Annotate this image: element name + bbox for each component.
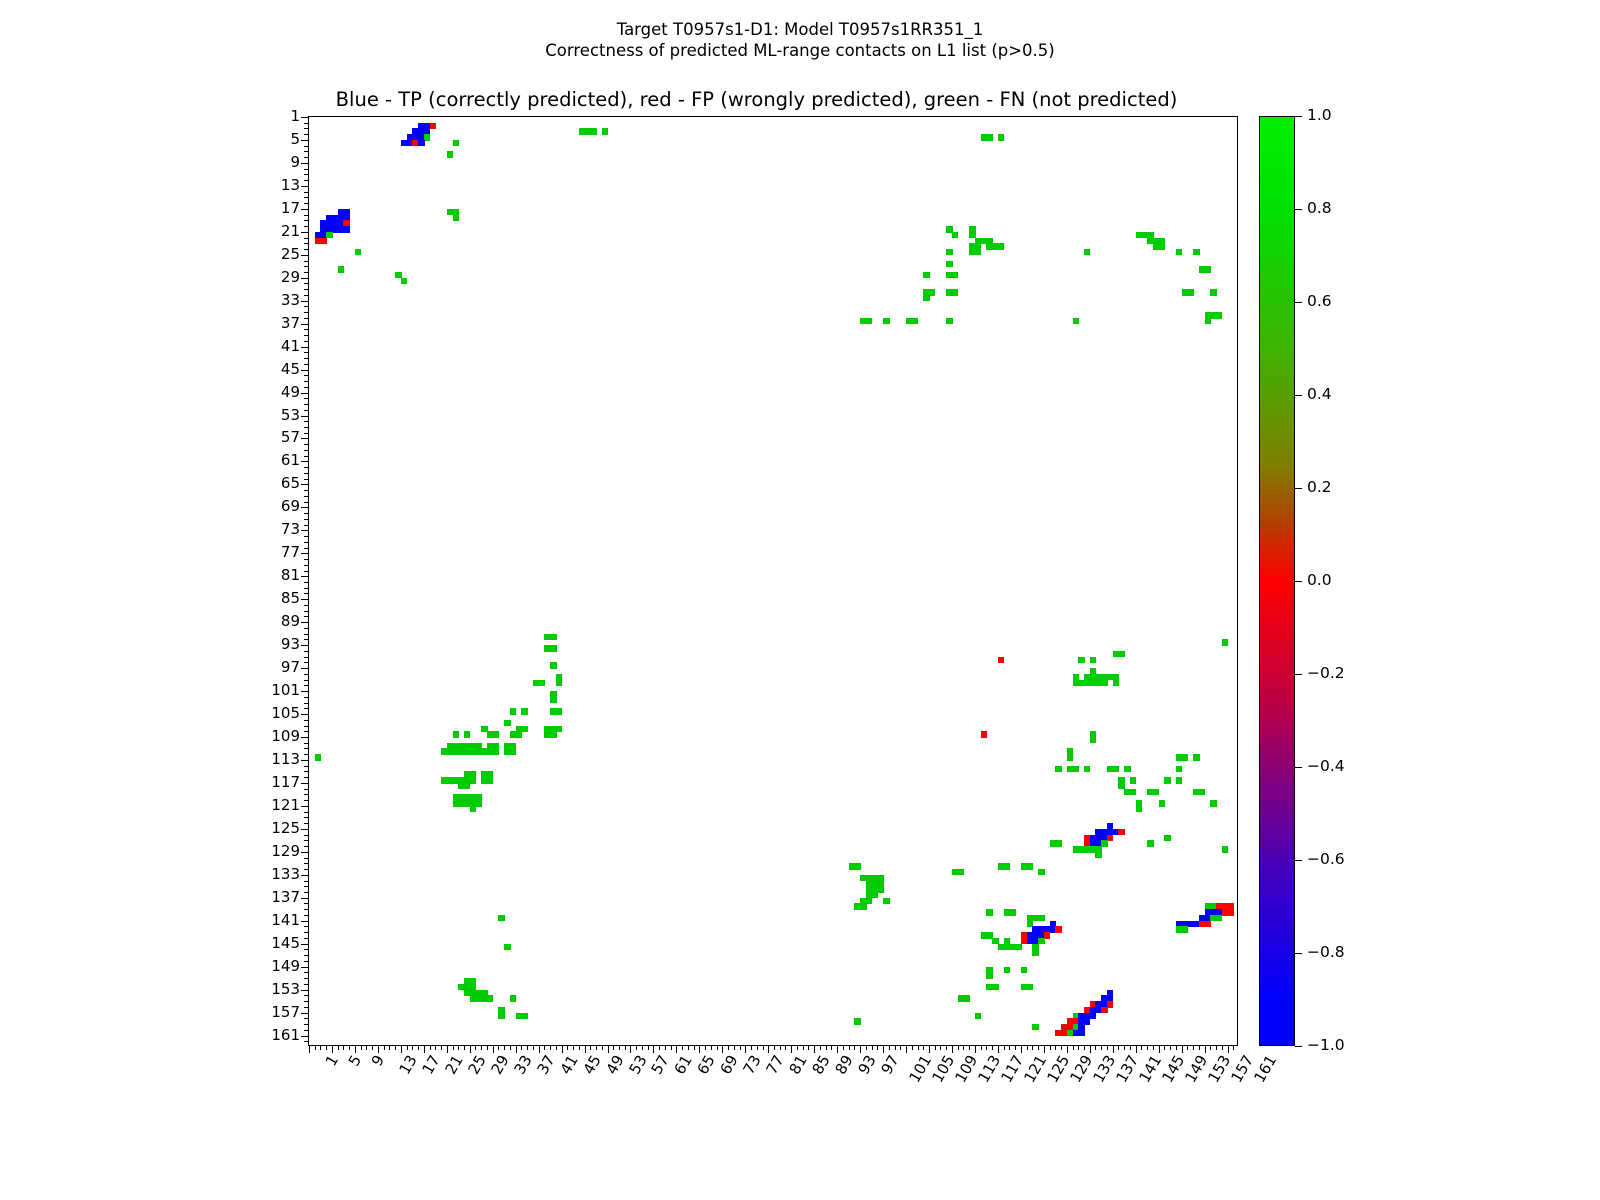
y-axis-tick	[304, 519, 309, 520]
x-axis-tick-label: 125	[1043, 1052, 1073, 1086]
contact-cell	[946, 249, 952, 255]
contact-cell	[1101, 1007, 1107, 1013]
x-axis-tick	[590, 1045, 591, 1050]
y-axis-tick	[304, 1024, 309, 1025]
colorbar-tick-label: −0.4	[1307, 759, 1345, 775]
contact-cell	[1090, 737, 1096, 743]
y-axis-tick	[301, 438, 309, 439]
contact-cell	[1004, 938, 1010, 944]
y-axis-tick-label: 141	[260, 913, 300, 928]
x-axis-tick	[1147, 1045, 1148, 1050]
y-axis-tick	[304, 881, 309, 882]
contact-cell	[963, 995, 969, 1001]
y-axis-tick	[304, 754, 309, 755]
x-axis-tick-label: 117	[997, 1052, 1027, 1086]
contact-cell	[343, 226, 349, 232]
x-axis-tick	[384, 1045, 385, 1050]
x-axis-tick	[326, 1045, 327, 1050]
y-axis-tick	[304, 571, 309, 572]
y-axis-tick	[304, 582, 309, 583]
y-axis-tick-label: 85	[260, 591, 300, 606]
x-axis-tick	[1004, 1045, 1005, 1050]
contact-cell	[1130, 789, 1136, 795]
y-axis-tick	[301, 622, 309, 623]
contact-cell	[860, 903, 866, 909]
x-axis-tick	[688, 1045, 689, 1050]
x-axis-tick	[596, 1045, 597, 1050]
y-axis-tick	[301, 186, 309, 187]
contact-cell	[1004, 863, 1010, 869]
contact-cell	[1084, 1018, 1090, 1024]
contact-cell	[1101, 680, 1107, 686]
y-axis-tick	[304, 863, 309, 864]
x-axis-tick	[1233, 1045, 1234, 1050]
x-axis-tick	[1141, 1045, 1142, 1050]
y-axis-tick	[304, 444, 309, 445]
x-axis-tick-label: 45	[579, 1052, 604, 1078]
y-axis-tick	[304, 525, 309, 526]
x-axis-tick	[808, 1045, 809, 1050]
contact-cell	[453, 731, 459, 737]
y-axis-tick	[304, 1030, 309, 1031]
y-axis-tick-label: 17	[260, 201, 300, 216]
contact-cell	[1107, 835, 1113, 841]
y-axis-tick	[304, 174, 309, 175]
x-axis-tick	[963, 1045, 964, 1050]
y-axis-tick	[304, 536, 309, 537]
contact-cell	[510, 995, 516, 1001]
x-axis-tick	[613, 1045, 614, 1050]
x-axis-tick-label: 121	[1020, 1052, 1050, 1086]
x-axis-tick	[992, 1045, 993, 1050]
contact-cell	[986, 972, 992, 978]
y-axis-tick	[304, 134, 309, 135]
x-axis-tick-label: 157	[1227, 1052, 1257, 1086]
x-axis-tick	[573, 1045, 574, 1050]
x-axis-tick-label: 17	[418, 1052, 443, 1078]
contact-cell	[464, 731, 470, 737]
colorbar-tick-labels: 1.00.80.60.40.20.0−0.2−0.4−0.6−0.8−1.0	[1295, 116, 1365, 1046]
contact-cell	[1193, 249, 1199, 255]
y-axis-tick	[304, 381, 309, 382]
x-axis-tick	[441, 1045, 442, 1050]
y-axis-tick-label: 1	[260, 109, 300, 124]
y-axis-tick	[304, 972, 309, 973]
contact-map-cells	[309, 117, 1237, 1045]
colorbar-tick-label: −0.2	[1307, 666, 1345, 682]
x-axis-tick-label: 21	[441, 1052, 466, 1078]
y-axis-tick-label: 9	[260, 155, 300, 170]
y-axis-tick	[301, 829, 309, 830]
y-axis-tick	[304, 479, 309, 480]
y-axis-tick	[304, 1001, 309, 1002]
y-axis-tick-label: 5	[260, 132, 300, 147]
x-axis-tick-label: 153	[1204, 1052, 1234, 1086]
x-axis-tick	[1095, 1045, 1096, 1050]
x-axis-tick-label: 57	[648, 1052, 673, 1078]
y-axis-tick	[304, 789, 309, 790]
x-axis-tick	[602, 1045, 603, 1050]
y-axis-tick-label: 61	[260, 453, 300, 468]
y-axis-tick	[304, 909, 309, 910]
x-axis-tick	[407, 1045, 408, 1050]
contact-cell	[1164, 777, 1170, 783]
x-axis-tick	[1164, 1045, 1165, 1050]
y-axis-tick	[301, 278, 309, 279]
contact-cell	[1228, 909, 1234, 915]
contact-cell	[952, 272, 958, 278]
contact-cell	[1205, 318, 1211, 324]
colorbar-tick	[1295, 581, 1302, 582]
contact-cell	[320, 238, 326, 244]
x-axis-tick	[877, 1045, 878, 1050]
y-axis-tick	[304, 502, 309, 503]
x-axis-tick-label: 13	[395, 1052, 420, 1078]
x-axis-tick	[981, 1045, 982, 1050]
y-axis-tick	[304, 961, 309, 962]
x-axis-tick	[1032, 1045, 1033, 1050]
colorbar-tick-label: 0.2	[1307, 480, 1332, 496]
x-axis-tick	[918, 1045, 919, 1050]
contact-cell	[1113, 766, 1119, 772]
x-axis-tick-label: 73	[740, 1052, 765, 1078]
y-axis-tick	[304, 858, 309, 859]
y-axis-tick	[301, 714, 309, 715]
x-axis-tick-label: 65	[694, 1052, 719, 1078]
x-axis-tick	[717, 1045, 718, 1050]
y-axis-tick	[304, 932, 309, 933]
y-axis-tick	[304, 978, 309, 979]
contact-cell	[590, 128, 596, 134]
y-axis-tick	[304, 123, 309, 124]
y-axis-tick	[301, 347, 309, 348]
contact-cell	[550, 645, 556, 651]
y-axis-tick	[304, 639, 309, 640]
y-axis-tick	[304, 410, 309, 411]
x-axis-tick	[665, 1045, 666, 1050]
y-axis-tick	[304, 955, 309, 956]
y-axis-tick	[304, 565, 309, 566]
y-axis-tick	[304, 743, 309, 744]
contact-cell	[923, 272, 929, 278]
y-axis-tick	[304, 283, 309, 284]
contact-cell	[952, 289, 958, 295]
y-axis-tick	[304, 616, 309, 617]
y-axis-tick-label: 137	[260, 890, 300, 905]
x-axis-tick	[1038, 1045, 1039, 1050]
contact-cell	[493, 748, 499, 754]
x-axis-tick	[521, 1045, 522, 1050]
y-axis-tick	[304, 892, 309, 893]
x-axis-tick	[1187, 1045, 1188, 1050]
contact-cell	[1038, 915, 1044, 921]
y-axis-tick-label: 93	[260, 637, 300, 652]
y-axis-tick	[304, 238, 309, 239]
x-axis-tick	[1107, 1045, 1108, 1050]
contact-cell	[877, 886, 883, 892]
y-axis-tick	[301, 209, 309, 210]
y-axis-tick	[301, 898, 309, 899]
y-axis-tick	[301, 117, 309, 118]
contact-cell	[1090, 668, 1096, 674]
x-axis-tick	[923, 1045, 924, 1050]
contact-cell	[992, 984, 998, 990]
y-axis-tick	[304, 559, 309, 560]
contact-cell	[975, 249, 981, 255]
x-axis-tick-label: 69	[717, 1052, 742, 1078]
colorbar-tick	[1295, 488, 1302, 489]
x-axis-tick-label: 29	[487, 1052, 512, 1078]
y-axis-tick	[301, 760, 309, 761]
contact-cell	[1038, 869, 1044, 875]
y-axis-tick-label: 105	[260, 706, 300, 721]
colorbar-tick	[1295, 302, 1302, 303]
x-axis-tick	[763, 1045, 764, 1050]
contact-cell	[430, 123, 436, 129]
colorbar-gradient	[1259, 116, 1295, 1046]
y-axis-tick	[301, 461, 309, 462]
y-axis-tick	[304, 817, 309, 818]
x-axis-tick	[711, 1045, 712, 1050]
contact-cell	[453, 215, 459, 221]
y-axis-tick	[304, 427, 309, 428]
contact-cell	[1038, 938, 1044, 944]
x-axis-tick	[510, 1045, 511, 1050]
y-axis-tick	[304, 1007, 309, 1008]
x-axis-tick	[820, 1045, 821, 1050]
contact-cell	[975, 1013, 981, 1019]
y-axis-tick	[301, 553, 309, 554]
y-axis-tick	[304, 995, 309, 996]
y-axis-tick-label: 41	[260, 339, 300, 354]
contact-cell	[1124, 766, 1130, 772]
contact-cell	[1027, 984, 1033, 990]
y-axis-tick	[301, 507, 309, 508]
y-axis-tick	[304, 726, 309, 727]
contact-cell	[487, 995, 493, 1001]
y-axis-tick	[301, 875, 309, 876]
contact-cell	[883, 898, 889, 904]
x-axis-tick	[556, 1045, 557, 1050]
contact-cell	[504, 720, 510, 726]
x-axis-tick	[849, 1045, 850, 1050]
y-axis-tick	[304, 835, 309, 836]
y-axis-tick-label: 25	[260, 247, 300, 262]
y-axis-tick	[304, 588, 309, 589]
contact-cell	[986, 134, 992, 140]
x-axis-tick	[315, 1045, 316, 1050]
y-axis-tick	[301, 967, 309, 968]
x-axis-tick	[498, 1045, 499, 1050]
contact-cell	[1101, 840, 1107, 846]
y-axis-tick	[304, 249, 309, 250]
y-axis-tick-label: 145	[260, 936, 300, 951]
x-axis-tick-label: 53	[625, 1052, 650, 1078]
y-axis-tick	[301, 484, 309, 485]
contact-cell	[418, 140, 424, 146]
contact-cell	[1032, 1024, 1038, 1030]
x-axis-tick	[900, 1045, 901, 1050]
y-axis-tick	[304, 662, 309, 663]
y-axis-tick-label: 113	[260, 752, 300, 767]
y-axis-tick	[304, 243, 309, 244]
x-axis-tick	[1210, 1045, 1211, 1050]
contact-cell	[315, 754, 321, 760]
contact-map-plot-area[interactable]	[308, 116, 1238, 1046]
x-axis-tick	[412, 1045, 413, 1050]
y-axis-tick	[304, 846, 309, 847]
x-axis-tick	[320, 1045, 321, 1050]
x-axis-tick	[1073, 1045, 1074, 1050]
y-axis-tick	[304, 800, 309, 801]
y-axis-tick	[304, 680, 309, 681]
y-axis-tick-label: 121	[260, 798, 300, 813]
x-axis-tick	[946, 1045, 947, 1050]
x-axis-tick	[895, 1045, 896, 1050]
contact-cell	[1084, 766, 1090, 772]
contact-cell	[1055, 766, 1061, 772]
y-axis-tick	[304, 364, 309, 365]
x-axis-tick-label: 105	[928, 1052, 958, 1086]
y-axis-tick	[301, 599, 309, 600]
y-axis-tick	[304, 611, 309, 612]
x-axis-tick	[389, 1045, 390, 1050]
x-axis-tick	[1009, 1045, 1010, 1050]
contact-cell	[1176, 766, 1182, 772]
x-axis-tick	[458, 1045, 459, 1050]
x-axis-tick-label: 133	[1089, 1052, 1119, 1086]
y-axis-tick	[304, 197, 309, 198]
y-axis-tick	[301, 783, 309, 784]
y-axis-tick	[301, 852, 309, 853]
y-axis-tick	[304, 628, 309, 629]
x-axis-tick-label: 81	[786, 1052, 811, 1078]
y-axis-tick	[304, 812, 309, 813]
x-axis-tick	[475, 1045, 476, 1050]
y-axis-tick	[304, 926, 309, 927]
y-axis-tick	[304, 215, 309, 216]
contact-cell	[424, 134, 430, 140]
contact-cell	[1084, 249, 1090, 255]
colorbar-tick	[1295, 767, 1302, 768]
contact-cell	[981, 731, 987, 737]
contact-cell	[510, 708, 516, 714]
y-axis-tick	[304, 180, 309, 181]
y-axis-tick	[304, 266, 309, 267]
x-axis-tick	[1153, 1045, 1154, 1050]
x-axis-tick	[642, 1045, 643, 1050]
x-axis-tick-label: 77	[763, 1052, 788, 1078]
colorbar-tick-label: 0.0	[1307, 573, 1332, 589]
y-axis-tick	[304, 685, 309, 686]
y-axis-tick-label: 21	[260, 224, 300, 239]
x-axis-tick	[935, 1045, 936, 1050]
contact-cell	[1136, 806, 1142, 812]
y-axis-tick	[301, 806, 309, 807]
x-axis-tick	[544, 1045, 545, 1050]
y-axis-tick	[304, 329, 309, 330]
contact-cell	[1216, 312, 1222, 318]
x-axis-tick	[854, 1045, 855, 1050]
x-axis-tick	[889, 1045, 890, 1050]
y-axis-tick	[304, 220, 309, 221]
contact-cell	[1090, 657, 1096, 663]
x-axis-tick	[1193, 1045, 1194, 1050]
y-axis-tick	[304, 593, 309, 594]
y-axis-tick	[304, 295, 309, 296]
contact-cell	[1159, 800, 1165, 806]
x-axis-tick	[740, 1045, 741, 1050]
x-axis-tick-label: 61	[671, 1052, 696, 1078]
x-axis-tick	[1118, 1045, 1119, 1050]
y-axis-tick	[304, 720, 309, 721]
y-axis-tick	[304, 938, 309, 939]
contact-cell	[1090, 846, 1096, 852]
y-axis-tick	[304, 261, 309, 262]
contact-cell	[401, 278, 407, 284]
x-axis-tick	[366, 1045, 367, 1050]
contact-cell	[521, 1013, 527, 1019]
x-axis-tick-label: 161	[1250, 1052, 1280, 1086]
y-axis-tick	[301, 140, 309, 141]
x-axis-tick-label: 141	[1135, 1052, 1165, 1086]
contact-cell	[1199, 789, 1205, 795]
y-axis-tick-label: 117	[260, 775, 300, 790]
y-axis-tick	[304, 421, 309, 422]
contact-cell	[470, 806, 476, 812]
y-axis-tick-label: 33	[260, 293, 300, 308]
y-axis-tick	[304, 192, 309, 193]
contact-cell	[1073, 766, 1079, 772]
x-axis-tick	[1027, 1045, 1028, 1050]
y-axis-tick-label: 109	[260, 729, 300, 744]
y-axis-tick	[304, 886, 309, 887]
y-axis-tick	[301, 255, 309, 256]
colorbar-tick	[1295, 953, 1302, 954]
y-axis-tick	[301, 921, 309, 922]
contact-cell	[1044, 932, 1050, 938]
x-axis-tick-label: 97	[878, 1052, 903, 1078]
contact-cell	[1073, 318, 1079, 324]
figure-title-line-1: Target T0957s1-D1: Model T0957s1RR351_1	[0, 20, 1600, 39]
contact-cell	[521, 708, 527, 714]
contact-cell	[1090, 1013, 1096, 1019]
x-axis-tick	[619, 1045, 620, 1050]
contact-cell	[510, 748, 516, 754]
contact-cell	[986, 909, 992, 915]
contact-cell	[1009, 909, 1015, 915]
y-axis-tick	[304, 697, 309, 698]
contact-cell	[338, 266, 344, 272]
y-axis-tick	[301, 301, 309, 302]
y-axis-tick	[304, 289, 309, 290]
y-axis-tick	[304, 128, 309, 129]
x-axis-tick	[1061, 1045, 1062, 1050]
x-axis-tick	[659, 1045, 660, 1050]
contact-cell	[556, 726, 562, 732]
contact-cell	[470, 777, 476, 783]
contact-cell	[1193, 754, 1199, 760]
contact-cell	[946, 261, 952, 267]
contact-cell	[1176, 249, 1182, 255]
y-axis-tick	[304, 777, 309, 778]
x-axis-tick	[831, 1045, 832, 1050]
contact-cell	[1205, 921, 1211, 927]
y-axis-tick-label: 157	[260, 1005, 300, 1020]
x-axis-tick	[430, 1045, 431, 1050]
contact-cell	[866, 318, 872, 324]
x-axis-tick	[682, 1045, 683, 1050]
